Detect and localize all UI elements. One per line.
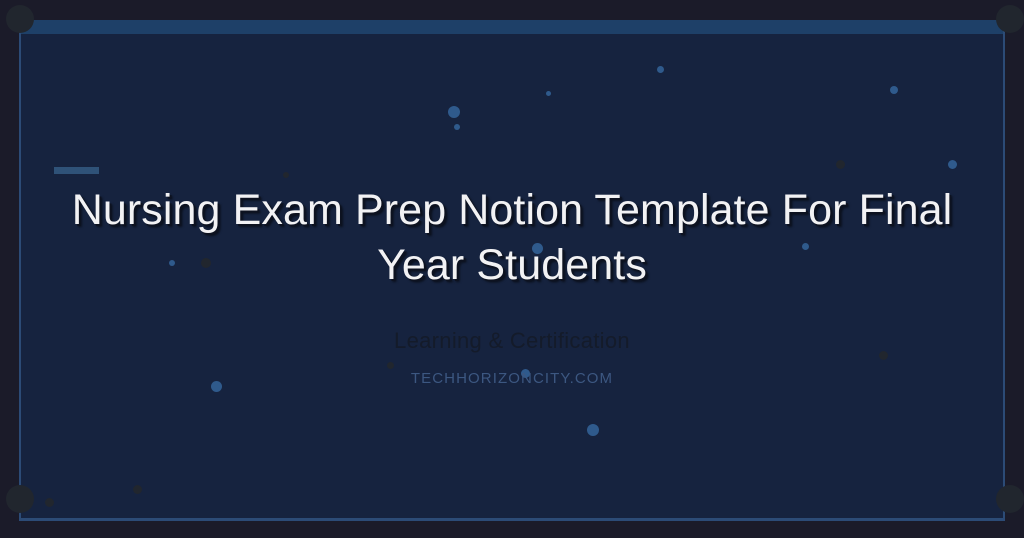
corner-circle-bottom-right xyxy=(996,485,1024,513)
corner-circle-bottom-left xyxy=(6,485,34,513)
site-watermark: TECHHORIZONCITY.COM xyxy=(62,370,962,387)
corner-circle-top-left xyxy=(6,5,34,33)
slide-canvas: Nursing Exam Prep Notion Template For Fi… xyxy=(0,0,1024,538)
corner-circle-top-right xyxy=(996,5,1024,33)
slide-subtitle: Learning & Certification xyxy=(62,328,962,354)
accent-dash xyxy=(54,167,99,174)
page-title: Nursing Exam Prep Notion Template For Fi… xyxy=(42,183,982,293)
slide-panel: Nursing Exam Prep Notion Template For Fi… xyxy=(19,20,1005,521)
slide-content: Nursing Exam Prep Notion Template For Fi… xyxy=(21,20,1003,518)
